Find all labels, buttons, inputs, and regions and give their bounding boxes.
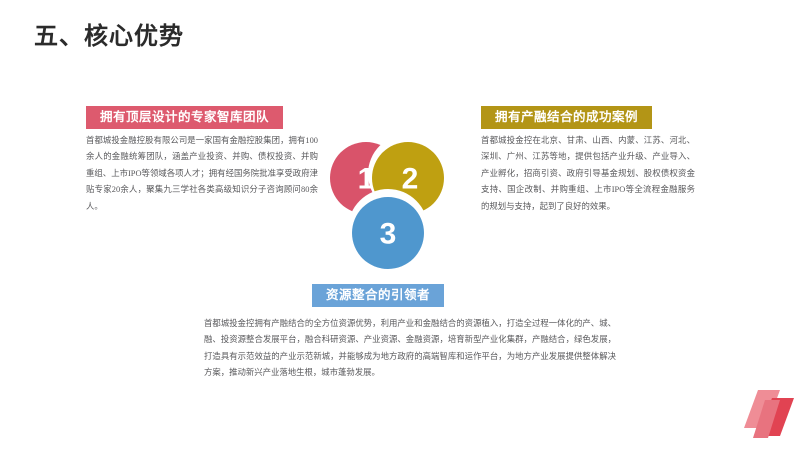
venn-diagram: 1 2 3	[318, 130, 458, 270]
section-header-expert-think-tank: 拥有顶层设计的专家智库团队	[86, 106, 283, 129]
section-header-industry-finance-cases: 拥有产融结合的成功案例	[481, 106, 652, 129]
venn-circle-3: 3	[352, 197, 424, 269]
venn-diagram-svg: 1 2 3	[318, 130, 458, 270]
venn-circle-2-label: 2	[402, 163, 419, 196]
section-header-resource-integration-leader: 资源整合的引领者	[312, 284, 444, 307]
corner-logo	[742, 388, 794, 446]
section-body-resource-integration-leader: 首都城投金控拥有产融结合的全方位资源优势，利用产业和金融结合的资源植入，打造全过…	[204, 316, 616, 382]
corner-logo-svg	[742, 388, 794, 446]
venn-circle-3-label: 3	[380, 218, 397, 251]
section-body-industry-finance-cases: 首都城投金控在北京、甘肃、山西、内蒙、江苏、河北、深圳、广州、江苏等地，提供包括…	[481, 133, 695, 215]
slide-canvas: 五、核心优势 拥有顶层设计的专家智库团队 首都城投金融控股有限公司是一家国有金融…	[0, 0, 800, 450]
section-body-expert-think-tank: 首都城投金融控股有限公司是一家国有金融控股集团，拥有100余人的金融统筹团队，涵…	[86, 133, 318, 215]
page-title: 五、核心优势	[34, 16, 184, 51]
venn-circle-1-label: 1	[358, 163, 375, 196]
